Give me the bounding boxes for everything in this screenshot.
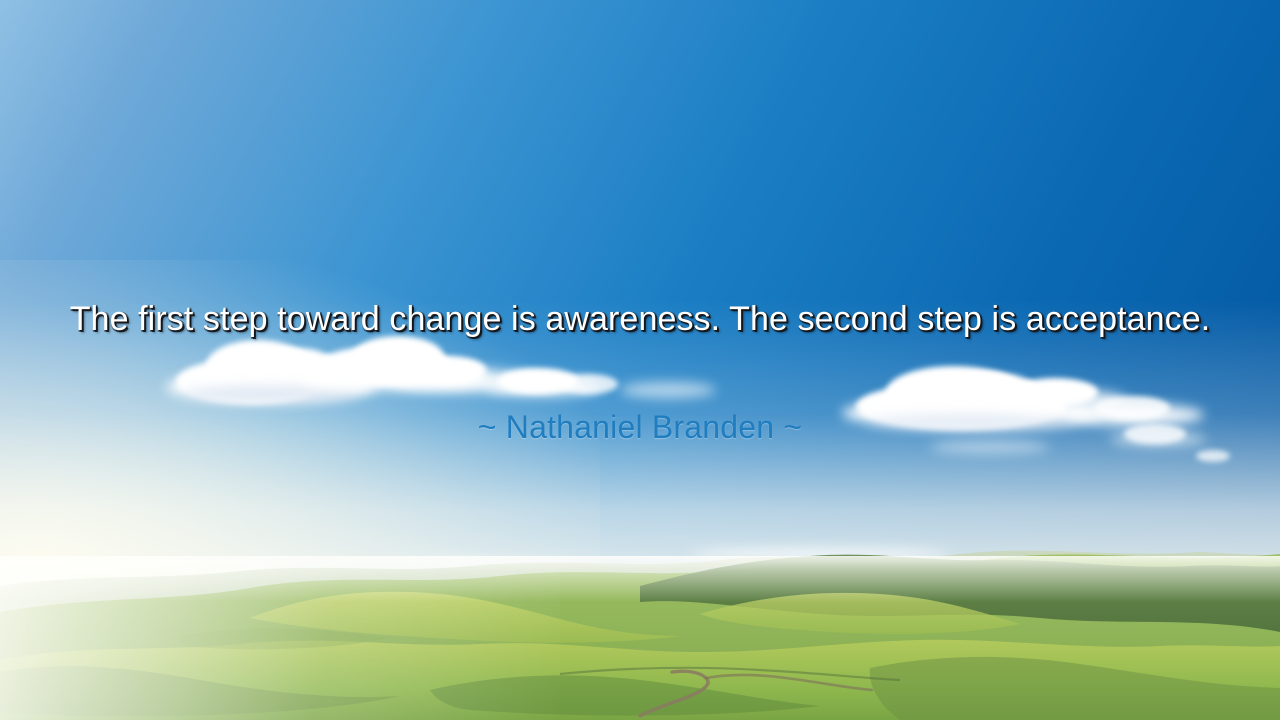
quote-text: The first step toward change is awarenes… — [64, 296, 1216, 343]
rolling-hills-landscape — [0, 540, 1280, 720]
quote-author: ~ Nathaniel Branden ~ — [64, 406, 1216, 448]
quote-image: The first step toward change is awarenes… — [0, 0, 1280, 720]
